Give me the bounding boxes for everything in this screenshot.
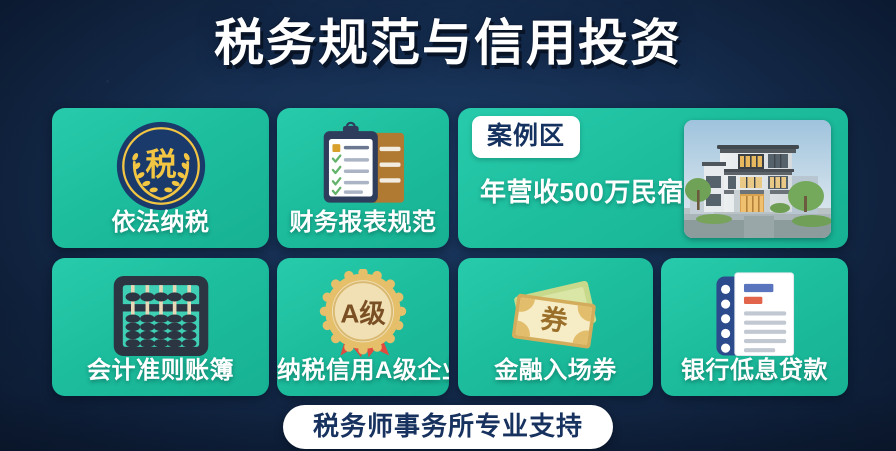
case-photo <box>684 120 831 238</box>
poster-canvas: 税务规范与信用投资 <box>0 0 896 451</box>
card-label: 会计准则账簿 <box>52 350 269 385</box>
footer-support-badge: 税务师事务所专业支持 <box>283 405 613 449</box>
card-label: 纳税信用A级企业 <box>277 350 449 385</box>
card-accounting-ledger[interactable]: 会计准则账簿 <box>52 258 269 396</box>
card-tax-compliance[interactable]: 税 依法纳税 <box>52 108 269 248</box>
tax-seal-icon: 税 <box>52 118 269 214</box>
case-badge: 案例区 <box>472 116 580 158</box>
card-label: 依法纳税 <box>52 202 269 237</box>
card-bank-loan[interactable]: 银行低息贷款 <box>661 258 848 396</box>
voucher-glyph: 券 <box>538 303 570 338</box>
clipboard-checklist-icon <box>277 118 449 214</box>
seal-character: 税 <box>145 147 176 182</box>
card-financial-statements[interactable]: 财务报表规范 <box>277 108 449 248</box>
card-label: 财务报表规范 <box>277 202 449 237</box>
card-label: 金融入场券 <box>458 350 653 385</box>
card-case-study[interactable]: 案例区 年营收500万民宿 <box>458 108 848 248</box>
card-credit-grade-a[interactable]: A级 纳税信用A级企业 <box>277 258 449 396</box>
case-headline: 年营收500万民宿 <box>480 176 684 208</box>
page-title: 税务规范与信用投资 <box>0 14 896 72</box>
card-label: 银行低息贷款 <box>661 350 848 385</box>
grade-badge-text: A级 <box>340 299 386 329</box>
card-finance-ticket[interactable]: 券 金融入场券 <box>458 258 653 396</box>
